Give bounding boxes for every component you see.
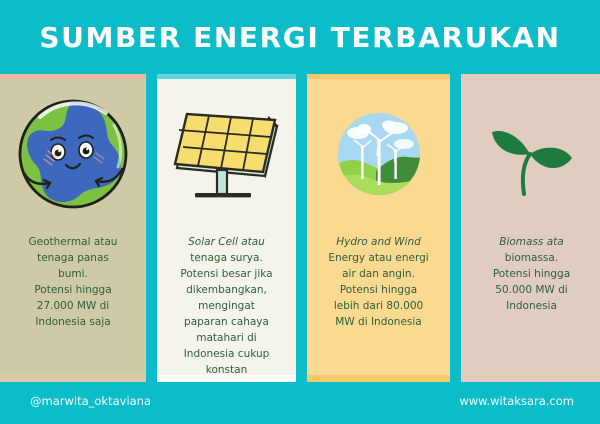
- caption-line: tenaga panas: [37, 252, 109, 264]
- column-bottom-stripe: [307, 375, 450, 382]
- column-hydro-wind: Hydro and Wind Energy atau energi air da…: [307, 74, 450, 382]
- solar-caption: Solar Cell atau tenaga surya. Potensi be…: [157, 234, 296, 378]
- caption-line: Potensi hingga: [340, 284, 417, 296]
- column-geothermal: Geothermal atau tenaga panas bumi. Poten…: [0, 74, 146, 382]
- column-top-stripe: [461, 74, 600, 79]
- caption-line: tenaga surya.: [190, 252, 263, 264]
- caption-line: Solar Cell atau: [188, 236, 265, 248]
- caption-line: mengingat: [198, 300, 255, 312]
- geothermal-icon-area: [0, 74, 146, 234]
- biomass-caption: Biomass ata biomassa. Potensi hingga 50.…: [461, 234, 600, 314]
- caption-line: 50.000 MW di: [495, 284, 567, 296]
- column-solar-cell: Solar Cell atau tenaga surya. Potensi be…: [157, 74, 296, 382]
- column-biomass: Biomass ata biomassa. Potensi hingga 50.…: [461, 74, 600, 382]
- caption-line: Potensi hingga: [34, 284, 111, 296]
- caption-line: air dan angin.: [342, 268, 415, 280]
- column-top-stripe: [307, 74, 450, 79]
- website-url: www.witaksara.com: [459, 394, 574, 408]
- author-handle: @marwita_oktaviana: [30, 394, 151, 408]
- column-divider: [296, 74, 307, 382]
- leaf-sprout-icon: [480, 102, 584, 206]
- caption-line: Potensi hingga: [493, 268, 570, 280]
- biomass-icon-area: [461, 74, 600, 234]
- caption-line: Energy atau energi: [328, 252, 428, 264]
- solar-panel-icon: [169, 104, 285, 204]
- caption-line: Biomass ata: [499, 236, 563, 248]
- caption-line: Hydro and Wind: [336, 236, 421, 248]
- caption-line: Geothermal atau: [29, 236, 118, 248]
- infographic-poster: SUMBER ENERGI TERBARUKAN: [0, 0, 600, 424]
- poster-header: SUMBER ENERGI TERBARUKAN: [0, 0, 600, 74]
- column-bottom-stripe: [157, 375, 296, 382]
- solar-icon-area: [157, 74, 296, 234]
- column-top-stripe: [0, 74, 146, 79]
- caption-line: 27.000 MW di: [37, 300, 109, 312]
- energy-columns: Geothermal atau tenaga panas bumi. Poten…: [0, 74, 600, 382]
- hydro-wind-caption: Hydro and Wind Energy atau energi air da…: [307, 234, 450, 330]
- column-bottom-stripe: [0, 375, 146, 382]
- geothermal-caption: Geothermal atau tenaga panas bumi. Poten…: [0, 234, 146, 330]
- caption-line: Indonesia saja: [35, 316, 110, 328]
- caption-line: lebih dari 80.000: [334, 300, 423, 312]
- caption-line: paparan cahaya: [184, 316, 269, 328]
- column-divider: [146, 74, 157, 382]
- caption-line: Potensi besar jika: [180, 268, 272, 280]
- caption-line: Indonesia: [506, 300, 557, 312]
- wind-turbines-icon: [336, 111, 422, 197]
- poster-footer: @marwita_oktaviana www.witaksara.com: [0, 382, 600, 424]
- caption-line: biomassa.: [505, 252, 558, 264]
- wind-icon-area: [307, 74, 450, 234]
- column-divider: [450, 74, 461, 382]
- caption-line: bumi.: [58, 268, 88, 280]
- smiling-earth-icon: [14, 95, 132, 213]
- caption-line: Indonesia cukup: [184, 348, 270, 360]
- caption-line: dikembangkan,: [186, 284, 267, 296]
- caption-line: matahari di: [196, 332, 256, 344]
- caption-line: MW di Indonesia: [335, 316, 421, 328]
- column-bottom-stripe: [461, 375, 600, 382]
- column-top-stripe: [157, 74, 296, 79]
- page-title: SUMBER ENERGI TERBARUKAN: [39, 21, 560, 54]
